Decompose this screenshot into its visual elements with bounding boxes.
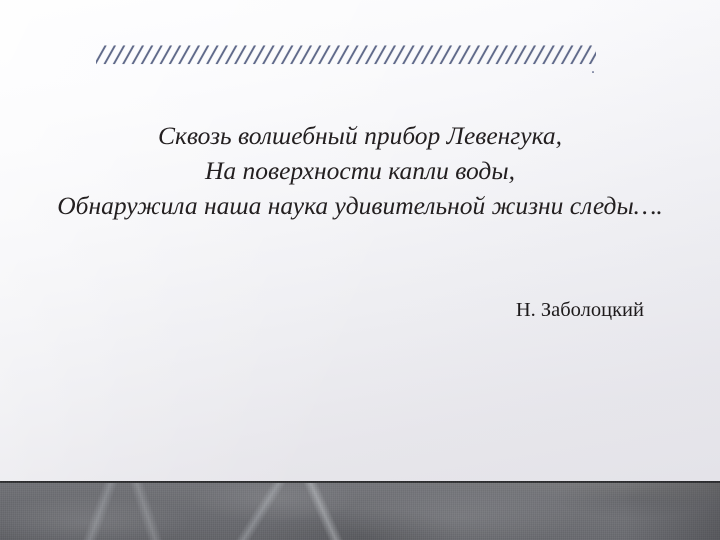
wall-sheen-overlay xyxy=(0,0,720,540)
poem-text-block: Сквозь волшебный прибор Левенгука, На по… xyxy=(14,118,706,223)
presentation-slide: ////////////////////////////////////////… xyxy=(0,0,720,540)
floor-right-shadow xyxy=(624,481,720,540)
poem-line-1: Сквозь волшебный прибор Левенгука, xyxy=(14,118,706,153)
tick-mark-divider: ////////////////////////////////////////… xyxy=(96,45,596,71)
floor-grain-texture xyxy=(0,481,720,540)
slate-floor-band xyxy=(0,481,720,540)
poem-attribution: Н. Заболоцкий xyxy=(0,297,644,323)
tick-mark-divider-glyphs: ////////////////////////////////////////… xyxy=(96,45,596,65)
poem-line-2: На поверхности капли воды, xyxy=(14,153,706,188)
floor-top-edge xyxy=(0,481,720,483)
poem-line-3: Обнаружила наша наука удивительной жизни… xyxy=(14,188,706,223)
